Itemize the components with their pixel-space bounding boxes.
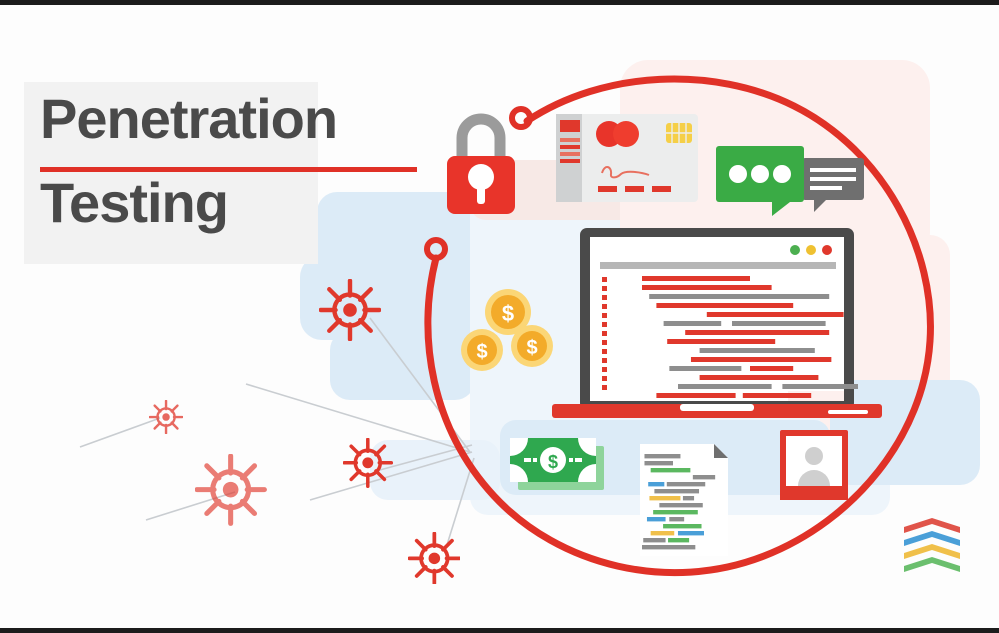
url-bar: [600, 262, 836, 269]
card-stripe-line-2: [560, 145, 580, 149]
chat-dot-1: [729, 165, 747, 183]
gutter-dot-4: [602, 304, 607, 309]
doc-line-3-seg-1: [651, 468, 691, 472]
laptop-base-highlight: [828, 410, 868, 414]
code-line-13-seg-2: [782, 384, 858, 389]
code-line-2-seg-1: [642, 285, 772, 290]
traffic-light-red: [822, 245, 832, 255]
gutter-dot-7: [602, 331, 607, 336]
banknote-symbol: $: [548, 452, 558, 472]
doc-line-8-seg-1: [659, 503, 702, 507]
banknote-dash-r2: [575, 458, 582, 462]
gutter-dot-6: [602, 322, 607, 327]
chat-bubbles-icon: [716, 146, 868, 223]
gutter-dot-12: [602, 376, 607, 381]
letterbox-top: [0, 0, 999, 5]
code-line-12-seg-1: [700, 375, 819, 380]
doc-line-11-seg-1: [663, 524, 701, 528]
virus-core: [363, 458, 374, 469]
code-line-6-seg-2: [732, 321, 826, 326]
document-with-code: [636, 444, 732, 561]
code-line-1-seg-1: [642, 276, 750, 281]
laptop-code-editor: [552, 228, 882, 433]
virus-core: [343, 303, 357, 317]
virus-icon-2: [149, 400, 183, 439]
code-line-7-seg-1: [685, 330, 829, 335]
credit-card-icon: [556, 114, 698, 207]
code-line-3-seg-1: [649, 294, 829, 299]
virus-core: [223, 482, 239, 498]
code-line-11-seg-1: [669, 366, 741, 371]
traffic-light-yellow: [806, 245, 816, 255]
code-line-14-seg-1: [656, 393, 735, 398]
title-line-1: Penetration: [40, 88, 440, 150]
doc-line-6-seg-1: [654, 489, 699, 493]
virus-icon-3: [195, 454, 266, 530]
layered-stack-icon: [900, 512, 964, 579]
card-number-block-2: [625, 186, 644, 192]
virus-icon-4: [343, 438, 393, 493]
code-line-14-seg-2: [743, 393, 811, 398]
doc-line-9-seg-1: [653, 510, 698, 514]
chat-dot-2: [751, 165, 769, 183]
stack-layer-3: [904, 544, 960, 559]
chat-bubble-gray: [802, 158, 864, 212]
card-number-block-3: [652, 186, 671, 192]
doc-line-1-seg-1: [644, 454, 680, 458]
padlock-icon: [440, 104, 522, 221]
laptop-trackpad-notch: [680, 404, 754, 411]
doc-line-7-seg-1: [649, 496, 680, 500]
gutter-dot-13: [602, 385, 607, 390]
doc-line-10-seg-1: [647, 517, 666, 521]
banknote-icon: $: [508, 436, 606, 497]
card-stripe-line-3: [560, 152, 580, 156]
doc-line-12-seg-1: [651, 531, 675, 535]
gutter-dot-8: [602, 340, 607, 345]
doc-line-12-seg-2: [678, 531, 704, 535]
connector-line-1: [370, 318, 470, 452]
user-id-card-icon: [780, 430, 848, 505]
code-line-5-seg-1: [707, 312, 844, 317]
page-title: Penetration Testing: [40, 88, 440, 234]
card-logo-circle-right: [613, 121, 639, 147]
code-line-6-seg-1: [664, 321, 722, 326]
code-line-10-seg-1: [691, 357, 831, 362]
card-stripe-line-1: [560, 138, 580, 142]
letterbox-bottom: [0, 628, 999, 633]
padlock-shackle: [462, 119, 500, 162]
coin-symbol-2: $: [476, 341, 487, 363]
doc-line-10-seg-2: [669, 517, 684, 521]
code-line-13-seg-1: [678, 384, 772, 389]
doc-line-2-seg-1: [644, 461, 673, 465]
gutter-dot-1: [602, 277, 607, 282]
coin-symbol-3: $: [526, 337, 537, 359]
banknote-dash-l2: [533, 458, 537, 462]
illustration-canvas: Penetration Testing: [0, 0, 999, 633]
padlock-keyhole-stem: [477, 182, 485, 204]
title-underline-rule: [40, 167, 417, 172]
banknote-dash-l1: [524, 458, 531, 462]
doc-line-5-seg-2: [667, 482, 705, 486]
chat-dot-3: [773, 165, 791, 183]
title-line-2: Testing: [40, 172, 440, 234]
code-line-4-seg-1: [656, 303, 793, 308]
gutter-dot-5: [602, 313, 607, 318]
virus-core: [428, 552, 440, 564]
doc-line-14-seg-1: [642, 545, 695, 549]
id-card-bottom-bar: [780, 490, 848, 500]
virus-icon-1: [319, 279, 381, 346]
doc-line-7-seg-2: [683, 496, 694, 500]
code-line-9-seg-1: [700, 348, 815, 353]
document-fold-corner: [714, 444, 728, 458]
virus-core: [162, 413, 169, 420]
coin-left: $: [461, 329, 503, 371]
gutter-dot-11: [602, 367, 607, 372]
gutter-dot-2: [602, 286, 607, 291]
doc-line-13-seg-1: [643, 538, 665, 542]
traffic-light-green: [790, 245, 800, 255]
doc-line-13-seg-2: [668, 538, 689, 542]
code-line-11-seg-2: [750, 366, 793, 371]
gutter-dot-10: [602, 358, 607, 363]
stack-layer-1: [904, 518, 960, 533]
banknote-dash-r1: [569, 458, 573, 462]
doc-line-4-seg-1: [693, 475, 715, 479]
stack-layer-4: [904, 557, 960, 572]
card-stripe-line-4: [560, 159, 580, 163]
virus-icon-5: [408, 532, 461, 590]
coin-right: $: [511, 325, 553, 367]
gutter-dot-9: [602, 349, 607, 354]
chat-bubble-green: [716, 146, 804, 216]
gold-coins-icon: $ $ $: [458, 288, 558, 379]
code-line-8-seg-1: [667, 339, 775, 344]
card-number-block-1: [598, 186, 617, 192]
avatar-head: [805, 447, 823, 465]
doc-line-5-seg-1: [648, 482, 664, 486]
card-stripe-block: [560, 120, 580, 132]
stack-layer-2: [904, 531, 960, 546]
gutter-dot-3: [602, 295, 607, 300]
coin-symbol-1: $: [502, 301, 514, 326]
card-chip: [666, 123, 692, 143]
